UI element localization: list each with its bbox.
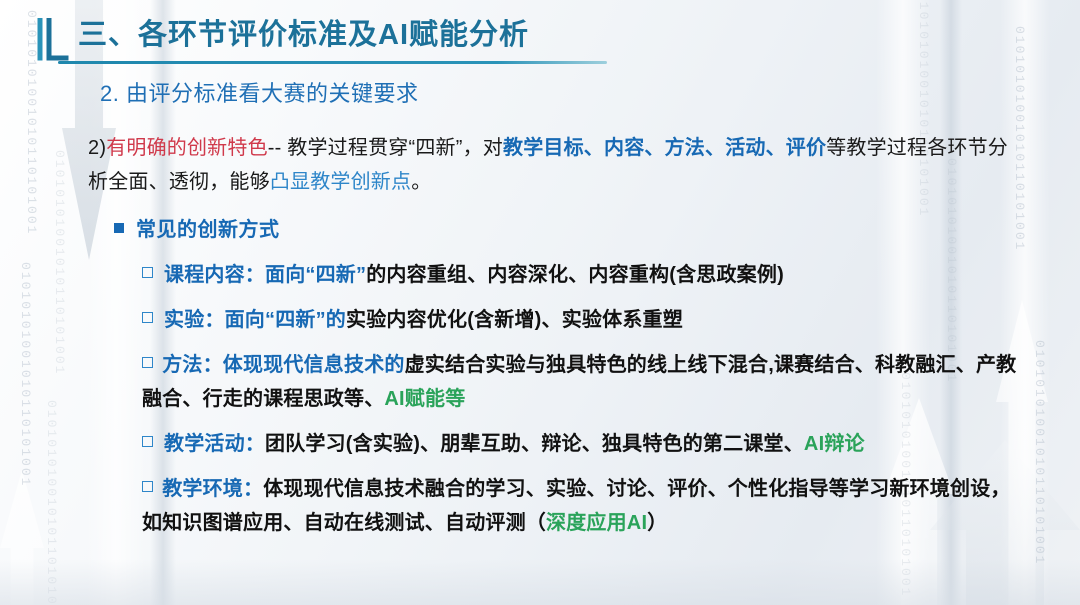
list-item-green-tail: 深度应用AI	[546, 512, 647, 534]
list-item-head: 实验：面向“四新”的	[164, 309, 346, 331]
list-item-text: 教学活动：团队学习(含实验)、朋辈互助、辩论、独具特色的第二课堂、AI辩论	[164, 427, 1028, 461]
hollow-square-bullet-icon	[142, 357, 153, 368]
filled-square-bullet-icon	[114, 223, 124, 233]
paragraph-part-1: -- 教学过程贯穿“四新”，对	[268, 137, 503, 159]
slide-subtitle: 2. 由评分标准看大赛的关键要求	[100, 76, 418, 108]
list-item: 教学环境：体现现代信息技术融合的学习、实验、讨论、评价、个性化指导等学习新环境创…	[142, 472, 1028, 540]
list-item: 教学活动：团队学习(含实验)、朋辈互助、辩论、独具特色的第二课堂、AI辩论	[142, 427, 1028, 461]
list-item-after-green: ）	[647, 512, 667, 534]
paragraph-part-3: 。	[411, 171, 431, 193]
intro-paragraph: 2)有明确的创新特色-- 教学过程贯穿“四新”，对教学目标、内容、方法、活动、评…	[88, 131, 1028, 199]
list-item-text: 实验：面向“四新”的实验内容优化(含新增)、实验体系重塑	[164, 303, 1028, 337]
paragraph-index: 2)	[88, 137, 106, 159]
hollow-square-bullet-icon	[142, 436, 153, 447]
list-item-text: 教学环境：体现现代信息技术融合的学习、实验、讨论、评价、个性化指导等学习新环境创…	[142, 472, 1028, 540]
paragraph-blue-emphasis-2: 凸显教学创新点	[270, 171, 411, 193]
list-item-head: 教学环境：	[162, 478, 263, 500]
slide-canvas: 01010101001010110101001 0101010100101011…	[0, 0, 1080, 605]
list-item-text: 课程内容：面向“四新”的内容重组、内容深化、内容重构(含思政案例)	[164, 258, 1028, 292]
section-heading: 常见的创新方式	[114, 213, 1028, 247]
bg-binary-watermark: 01010101001010110101001	[1032, 340, 1047, 565]
list-item: 实验：面向“四新”的实验内容优化(含新增)、实验体系重塑	[142, 303, 1028, 337]
hollow-square-bullet-icon	[142, 267, 153, 278]
list-item-head: 教学活动：	[164, 433, 265, 455]
list-item-rest: 的内容重组、内容深化、内容重构(含思政案例)	[366, 264, 784, 286]
bracket-bars-icon	[36, 18, 70, 64]
list-item-green-tail: AI辩论	[804, 433, 865, 455]
section-heading-label: 常见的创新方式	[136, 213, 280, 247]
bg-binary-watermark: 01010101001010110101001	[18, 262, 33, 487]
hollow-square-bullet-icon	[142, 312, 153, 323]
list-item-rest: 团队学习(含实验)、朋辈互助、辩论、独具特色的第二课堂、	[265, 433, 804, 455]
hollow-square-bullet-icon	[142, 481, 153, 492]
list-item-rest: 实验内容优化(含新增)、实验体系重塑	[346, 309, 683, 331]
bg-binary-watermark: 01010101001010110101001	[44, 400, 59, 605]
bg-bottom-shade	[0, 559, 1080, 605]
list-item-green-tail: AI赋能等	[384, 388, 465, 410]
paragraph-red-emphasis: 有明确的创新特色	[106, 137, 268, 159]
list-item-head: 方法：体现现代信息技术的	[162, 354, 404, 376]
list-item-head: 课程内容：面向“四新”	[164, 264, 366, 286]
slide-header: 三、各环节评价标准及AI赋能分析	[36, 14, 529, 64]
list-item: 课程内容：面向“四新”的内容重组、内容深化、内容重构(含思政案例)	[142, 258, 1028, 292]
list-item-text: 方法：体现现代信息技术的虚实结合实验与独具特色的线上线下混合,课赛结合、科教融汇…	[142, 348, 1028, 416]
list-item: 方法：体现现代信息技术的虚实结合实验与独具特色的线上线下混合,课赛结合、科教融汇…	[142, 348, 1028, 416]
bg-arrow-up-icon	[0, 470, 44, 605]
bg-binary-watermark: 01010101001010110101001	[52, 150, 67, 375]
page-title: 三、各环节评价标准及AI赋能分析	[78, 14, 529, 56]
slide-body: 2)有明确的创新特色-- 教学过程贯穿“四新”，对教学目标、内容、方法、活动、评…	[88, 131, 1028, 540]
title-underline	[58, 61, 607, 64]
paragraph-blue-emphasis-1: 教学目标、内容、方法、活动、评价	[503, 137, 826, 159]
